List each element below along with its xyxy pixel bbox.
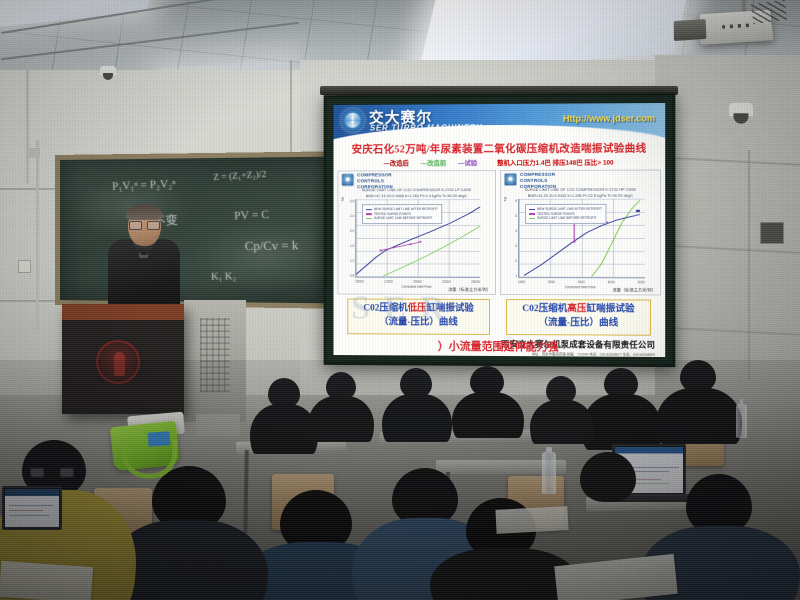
ytick: 2.8	[350, 199, 354, 203]
podium-side-cabinet	[184, 300, 246, 422]
chart-subtitle-text: BNR=47.15 Zi=0.9968 k=1.263 Pi=1.4 kgPa …	[366, 193, 468, 198]
audience-torso	[656, 388, 742, 444]
chart-legend-right: NEW SURGE LIMIT LINE AFTER RETROFIT TEST…	[525, 204, 606, 224]
ytick: 4	[515, 229, 517, 233]
chart-legend-left: NEW SURGE LIMIT LINE AFTER RETROFIT TEST…	[362, 204, 442, 224]
chart-unit-right: 流量（标准立方米/时）	[612, 287, 656, 293]
xtick: 25000	[471, 280, 480, 284]
audience-torso	[582, 394, 662, 450]
chart-xticks-right: 1000 2000 3000 4000 5000	[518, 280, 645, 284]
presenter	[108, 206, 180, 312]
xtick: 17500	[384, 280, 393, 284]
caption-line-2: （流量-压比）曲线	[350, 316, 487, 330]
legend-item-before: —改造前	[421, 158, 446, 167]
blue-folder	[148, 431, 171, 447]
ccc-logo-icon	[341, 173, 354, 186]
ytick: 0.8	[350, 274, 354, 278]
audience-torso	[530, 400, 594, 444]
blackboard-note-1: Z = (Z₁+Z₂)/2	[213, 168, 267, 182]
audience-torso	[382, 394, 452, 442]
test-point	[573, 241, 576, 243]
dome-camera-right-icon	[729, 103, 753, 117]
audience-torso	[250, 404, 318, 454]
projection-screen: 交大赛尔 SER TURBO-MACHINERY Http://www.jdse…	[324, 93, 676, 367]
series-tested-points-right	[574, 221, 607, 242]
slide-bottom-note: ）小流量范围延伸能力强	[333, 337, 665, 355]
charts-row: COMPRESSORCONTROLSCORPORATION SURGE LIMI…	[333, 166, 665, 295]
chart-subtitle-text: BNR=41.20 Zi=0.9182 k=1.296 Pi=22.8 kgPa…	[528, 193, 633, 198]
xtick: 3000	[578, 280, 585, 284]
ytick: 2.4	[350, 214, 354, 218]
laptop-screen-left[interactable]	[2, 486, 62, 530]
chart-high-pressure: COMPRESSORCONTROLSCORPORATION SURGE LIMI…	[500, 170, 661, 296]
wall-seam	[0, 300, 60, 302]
legend-label-test: —试验	[458, 158, 477, 167]
caption-line-2: （流量-压比）曲线	[509, 317, 648, 331]
wall-corner-seam	[748, 150, 750, 380]
caption-suffix: 缸喘振试验	[586, 304, 634, 314]
xtick: 1000	[518, 280, 525, 284]
caption-line-1: C02压缩机高压缸喘振试验	[509, 303, 648, 317]
chart-title-text: SURGE LIMIT LINE OF CO2 COMPRESSOR K-270…	[525, 187, 637, 192]
lecture-hall-scene: P₁V₁ⁿ = P₂V₂ⁿ Z = (Z₁+Z₂)/2 不变 PV = C 科技…	[0, 0, 800, 600]
presentation-slide: 交大赛尔 SER TURBO-MACHINERY Http://www.jdse…	[333, 103, 665, 357]
test-point	[419, 241, 422, 243]
xtick: 15000	[355, 280, 364, 284]
projector-vent-icon	[722, 23, 752, 28]
legend-label-after: —改造后	[384, 158, 409, 167]
caption-low-pressure: C02压缩机低压缸喘振试验 （流量-压比）曲线	[347, 298, 490, 334]
xtick: 20000	[413, 280, 422, 284]
xtick: 4000	[608, 280, 615, 284]
ccc-logo-icon	[504, 173, 517, 186]
ytick: 1.6	[350, 244, 354, 248]
chart-plot-area-right: NEW SURGE LIMIT LINE AFTER RETROFIT TEST…	[518, 199, 645, 279]
laptop-display	[5, 489, 59, 527]
xtick: 5000	[638, 280, 645, 284]
wall-control-panel[interactable]	[760, 222, 784, 244]
xtick: 2000	[548, 280, 555, 284]
chart-title-right: SURGE LIMIT LINE OF CO2 COMPRESSOR K-270…	[501, 187, 660, 199]
podium	[62, 304, 184, 414]
caption-high-pressure: C02压缩机高压缸喘振试验 （流量-压比）曲线	[506, 299, 651, 335]
ytick: 1	[515, 274, 517, 278]
caption-highlight: 高压	[567, 304, 586, 314]
water-bottle	[736, 404, 747, 438]
legend-item-after: —改造后	[384, 158, 409, 167]
company-logo-icon	[341, 109, 364, 132]
legend-row: SURGE LIMIT LINE BEFORE RETROFIT	[366, 216, 438, 221]
test-point	[409, 243, 412, 245]
caption-highlight: 低压	[408, 304, 427, 314]
series-tested-points-left	[381, 242, 421, 251]
presenter-hair	[126, 204, 163, 220]
blackboard: P₁V₁ⁿ = P₂V₂ⁿ Z = (Z₁+Z₂)/2 不变 PV = C 科技…	[55, 151, 358, 309]
chart-plot-area-left: NEW SURGE LIMIT LINE AFTER RETROFIT TEST…	[355, 199, 480, 278]
podium-base	[196, 414, 240, 436]
slide-title: 安庆石化52万吨/年尿素装置二氧化碳压缩机改造喘振试验曲线	[333, 140, 665, 156]
chart-yticks-right: 6 5 4 3 2 1	[504, 199, 517, 278]
chart-xticks-left: 15000 17500 20000 22500 25000	[355, 280, 480, 284]
test-point	[379, 250, 382, 252]
ytick: 1.2	[350, 259, 354, 263]
green-tote-bag	[110, 421, 180, 472]
wall-conduit	[26, 64, 29, 184]
end-marker	[636, 210, 640, 212]
legend-row: SURGE LIMIT LINE BEFORE RETROFIT	[529, 216, 602, 221]
caption-line-1: C02压缩机低压缸喘振试验	[350, 302, 487, 316]
audience-head	[580, 452, 636, 502]
dome-camera-icon	[100, 66, 116, 75]
wall-outlet[interactable]	[18, 260, 31, 273]
ytick: 2	[515, 259, 517, 263]
audience-head-front	[686, 474, 752, 534]
company-url[interactable]: Http://www.jdser.com	[563, 113, 655, 124]
chart-low-pressure: COMPRESSORCONTROLSCORPORATION SURGE LIMI…	[337, 170, 496, 295]
chart-yticks-left: 2.8 2.4 2.0 1.6 1.2 0.8	[341, 199, 354, 277]
series-before-retrofit-left	[383, 226, 480, 276]
handout-paper[interactable]	[0, 561, 93, 600]
ytick: 2.0	[350, 229, 354, 233]
caption-prefix: C02压缩机	[522, 304, 567, 314]
ytick: 5	[515, 214, 517, 218]
caption-row: C02压缩机低压缸喘振试验 （流量-压比）曲线 C02压缩机高压缸喘振试验 （流…	[333, 294, 665, 335]
chart-title-text: SURGE LIMIT LINE OF CO2 COMPRESSOR K-270…	[362, 187, 471, 192]
chart-title-left: SURGE LIMIT LINE OF CO2 COMPRESSOR K-270…	[338, 187, 495, 199]
wall-conduit-2	[36, 140, 39, 330]
chart-unit-left: 流量（标准立方米/时）	[448, 287, 491, 293]
slide-spec-text: 整机入口压力1.4巴 排压148巴 压比> 100	[497, 158, 614, 167]
glasses-icon	[30, 468, 74, 476]
audience-torso	[452, 392, 524, 438]
caption-prefix: C02压缩机	[363, 304, 407, 314]
water-bottle	[542, 452, 556, 494]
legend-item-test: —试验	[458, 158, 477, 167]
ytick: 3	[515, 244, 517, 248]
ytick: 6	[515, 199, 517, 203]
speaker-grille-icon	[200, 318, 230, 392]
legend-label-before: —改造前	[421, 158, 446, 167]
university-crest-icon	[96, 340, 140, 384]
conduit-junction-box	[26, 148, 40, 158]
glasses-icon	[129, 221, 160, 228]
handout-paper[interactable]	[495, 506, 568, 534]
caption-suffix: 缸喘振试验	[427, 304, 474, 314]
slide-header: 交大赛尔 SER TURBO-MACHINERY Http://www.jdse…	[333, 103, 665, 140]
xtick: 22500	[442, 280, 451, 284]
